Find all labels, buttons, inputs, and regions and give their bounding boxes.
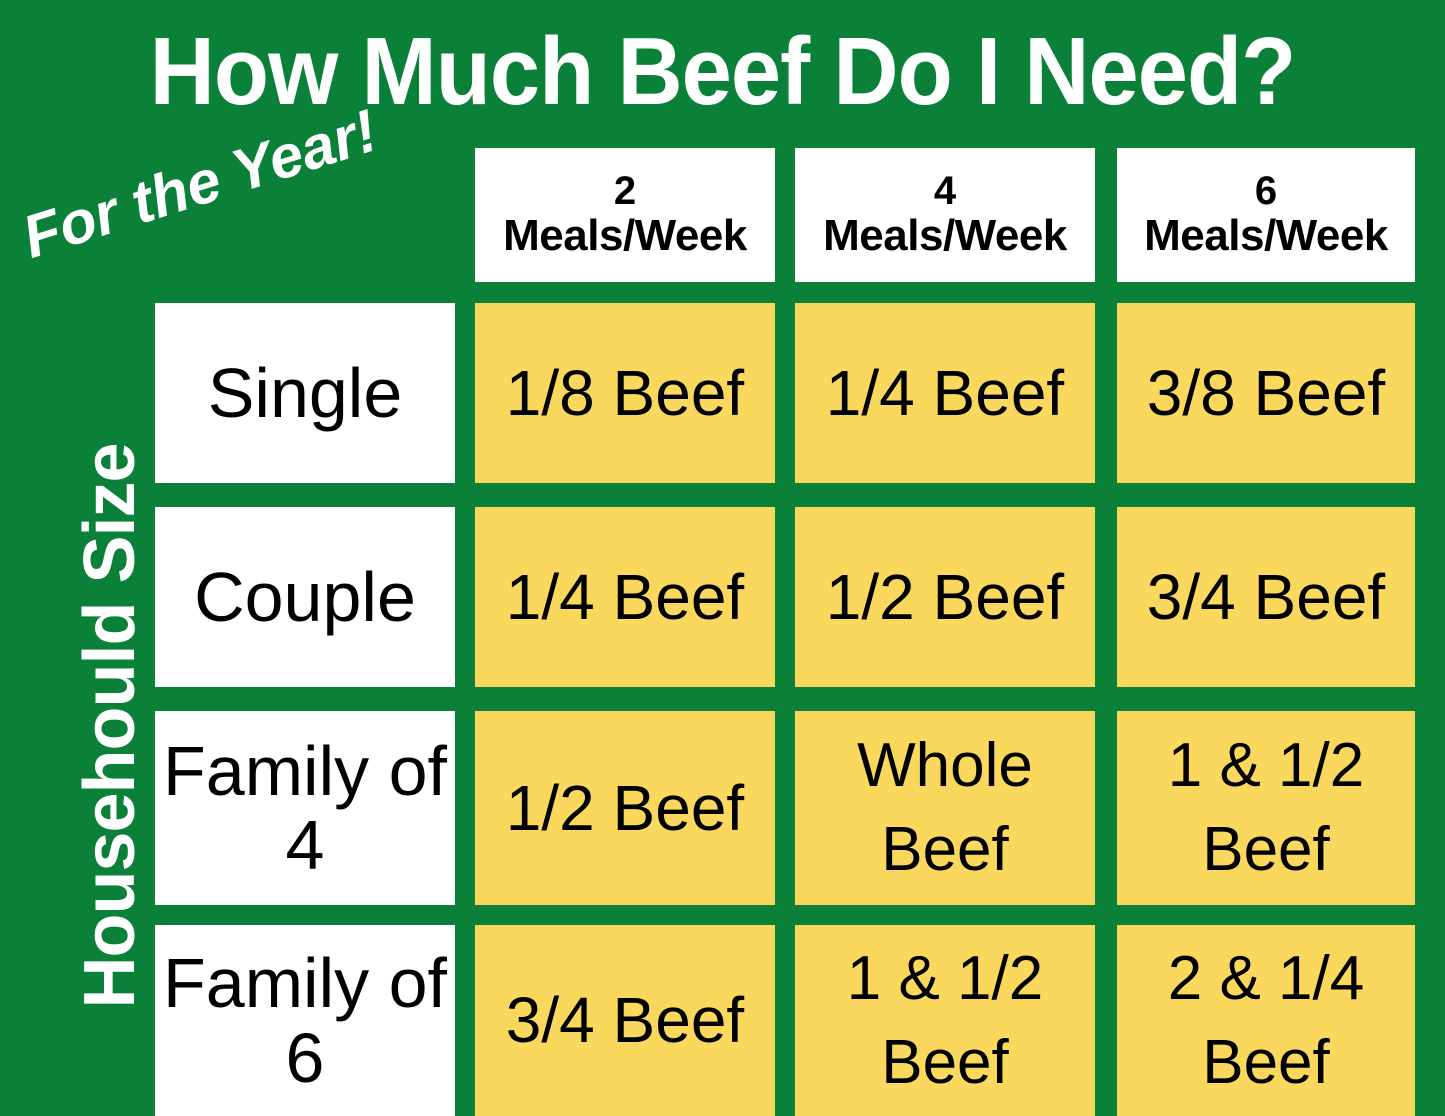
column-header-4-meals: 4 Meals/Week [795,148,1095,282]
table-cell-couple-6meals: 3/4 Beef [1117,507,1415,687]
row-axis-label: Househould Size [74,326,146,1116]
column-header-unit: Meals/Week [1144,213,1388,259]
column-header-count: 6 [1255,171,1277,213]
subtitle-for-the-year: For the Year! [16,100,384,268]
column-header-unit: Meals/Week [823,213,1067,259]
row-header-family-of-6: Family of 6 [155,925,455,1116]
beef-quantity-poster: How Much Beef Do I Need? For the Year! H… [0,0,1445,1116]
column-header-6-meals: 6 Meals/Week [1117,148,1415,282]
table-cell-couple-4meals: 1/2 Beef [795,507,1095,687]
table-cell-family6-4meals: 1 & 1/2 Beef [795,925,1095,1116]
row-header-couple: Couple [155,507,455,687]
table-cell-single-4meals: 1/4 Beef [795,303,1095,483]
table-cell-family4-6meals: 1 & 1/2 Beef [1117,711,1415,905]
page-title: How Much Beef Do I Need? [43,24,1401,120]
table-cell-family6-2meals: 3/4 Beef [475,925,775,1116]
table-cell-couple-2meals: 1/4 Beef [475,507,775,687]
table-cell-family4-4meals: Whole Beef [795,711,1095,905]
table-cell-family4-2meals: 1/2 Beef [475,711,775,905]
table-cell-family6-6meals: 2 & 1/4 Beef [1117,925,1415,1116]
table-cell-single-6meals: 3/8 Beef [1117,303,1415,483]
column-header-count: 4 [934,171,956,213]
column-header-count: 2 [614,171,636,213]
row-header-single: Single [155,303,455,483]
table-cell-single-2meals: 1/8 Beef [475,303,775,483]
column-header-2-meals: 2 Meals/Week [475,148,775,282]
row-header-family-of-4: Family of 4 [155,711,455,905]
column-header-unit: Meals/Week [503,213,747,259]
